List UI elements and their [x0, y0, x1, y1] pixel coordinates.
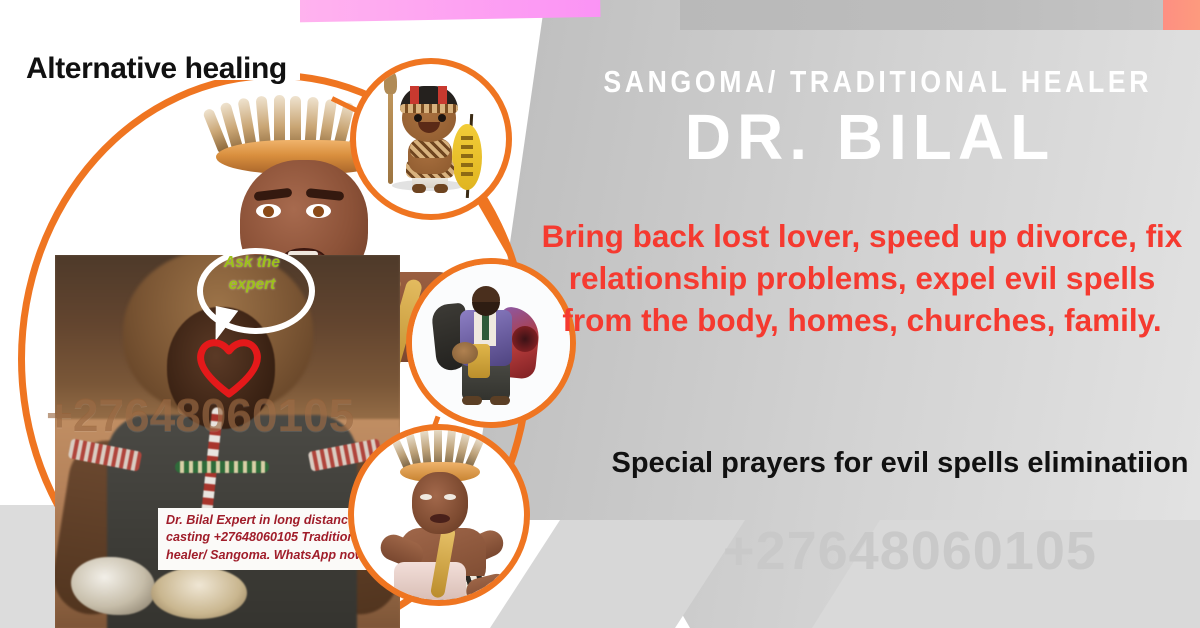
speech-bubble-label: Ask the expert	[202, 252, 302, 296]
heart-outline-icon	[195, 336, 263, 398]
doctor-name: DR. BILAL	[560, 104, 1180, 171]
poster-canvas: Alternative healing	[0, 0, 1200, 628]
phone-watermark: +27648060105	[620, 520, 1200, 582]
circle-zulu-warrior[interactable]	[350, 58, 512, 220]
kicker-title: SANGOMA/ TRADITIONAL HEALER	[603, 64, 1136, 100]
circle-sangoma-dancer[interactable]	[348, 424, 530, 606]
services-text: Bring back lost lover, speed up divorce,…	[540, 216, 1184, 342]
top-band-gray	[680, 0, 1170, 30]
gray-block-bottom-left	[0, 505, 58, 628]
top-band-orange-accent	[1163, 0, 1200, 30]
special-prayers-text: Special prayers for evil spells eliminat…	[600, 444, 1200, 483]
page-title: Alternative healing	[26, 52, 287, 86]
